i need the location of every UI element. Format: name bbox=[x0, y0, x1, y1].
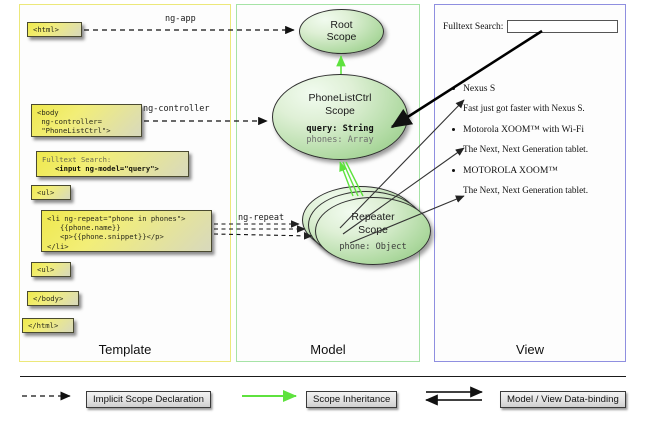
code-box-body-open: <body ng-controller= "PhoneListCtrl"> bbox=[31, 104, 142, 137]
code-line-4: </li> bbox=[47, 242, 69, 251]
code-line-3: "PhoneListCtrl"> bbox=[37, 126, 111, 135]
bullet-icon bbox=[452, 87, 455, 90]
scope-phonelistctrl: PhoneListCtrl Scope query: String phones… bbox=[272, 74, 408, 160]
legend-divider bbox=[20, 376, 626, 377]
scope-repeater-line1: Repeater bbox=[316, 198, 430, 224]
panel-template-label: Template bbox=[20, 342, 230, 357]
bullet-icon bbox=[452, 128, 455, 131]
list-item-snippet: The Next, Next Generation tablet. bbox=[448, 143, 620, 155]
view-search-input[interactable] bbox=[507, 20, 618, 33]
code-text: </html> bbox=[28, 321, 58, 330]
list-item-name: MOTOROLA XOOM™ bbox=[448, 164, 620, 177]
legend: Implicit Scope Declaration Scope Inherit… bbox=[20, 386, 626, 416]
code-text: <html> bbox=[33, 25, 59, 34]
legend-label: Model / View Data-binding bbox=[500, 391, 626, 408]
panel-model: Model bbox=[236, 4, 420, 362]
edge-label-ng-controller: ng-controller bbox=[143, 104, 210, 114]
list-item-name: Nexus S bbox=[448, 82, 620, 95]
legend-label: Implicit Scope Declaration bbox=[86, 391, 211, 408]
code-box-li-ng-repeat: <li ng-repeat="phone in phones"> {{phone… bbox=[41, 210, 212, 252]
green-arrow-icon bbox=[248, 389, 300, 409]
view-search-row: Fulltext Search: bbox=[443, 20, 618, 33]
code-line-2: ng-controller= bbox=[37, 117, 102, 126]
bullet-icon bbox=[452, 169, 455, 172]
edge-label-ng-repeat: ng-repeat bbox=[238, 213, 284, 223]
code-line-2: {{phone.name}} bbox=[47, 223, 121, 232]
code-box-body-close: </body> bbox=[27, 291, 79, 306]
list-item-snippet: Fast just got faster with Nexus S. bbox=[448, 102, 620, 114]
legend-item-scope-inheritance: Scope Inheritance bbox=[248, 389, 397, 409]
scope-root-line2: Scope bbox=[300, 31, 383, 43]
scope-repeater: Repeater Scope phone: Object bbox=[315, 197, 431, 265]
legend-item-implicit-scope-declaration: Implicit Scope Declaration bbox=[28, 389, 211, 409]
scope-ctrl-prop-query: query: String bbox=[306, 124, 373, 134]
list-item: MOTOROLA XOOM™ The Next, Next Generation… bbox=[448, 164, 620, 196]
scope-ctrl-line1: PhoneListCtrl bbox=[273, 75, 407, 105]
scope-repeater-line2: Scope bbox=[316, 224, 430, 237]
scope-repeater-prop-phone: phone: Object bbox=[316, 242, 430, 252]
code-box-ul-open: <ul> bbox=[31, 185, 71, 200]
view-search-label: Fulltext Search: bbox=[443, 22, 503, 32]
code-line-1: Fulltext Search: bbox=[42, 155, 111, 164]
panel-template: Template bbox=[19, 4, 231, 362]
list-item: Nexus S Fast just got faster with Nexus … bbox=[448, 82, 620, 114]
code-text: <ul> bbox=[37, 188, 54, 197]
scope-root-line1: Root bbox=[300, 10, 383, 31]
edge-label-ng-app: ng-app bbox=[165, 14, 196, 24]
code-line-3: <p>{{phone.snippet}}</p> bbox=[47, 232, 164, 241]
code-box-html-close: </html> bbox=[22, 318, 74, 333]
scope-ctrl-prop-phones: phones: Array bbox=[306, 135, 373, 145]
legend-item-model-view-data-binding: Model / View Data-binding bbox=[432, 389, 626, 409]
panel-model-label: Model bbox=[237, 342, 419, 357]
view-phone-list: Nexus S Fast just got faster with Nexus … bbox=[448, 82, 620, 203]
code-text: </body> bbox=[33, 294, 63, 303]
diagram-root: Template Model View <html> <body ng-cont… bbox=[0, 0, 645, 425]
list-item: Motorola XOOM™ with Wi-Fi The Next, Next… bbox=[448, 123, 620, 155]
code-box-ul-close: <ul> bbox=[31, 262, 71, 277]
list-item-snippet: The Next, Next Generation tablet. bbox=[448, 184, 620, 196]
scope-ctrl-line2: Scope bbox=[273, 105, 407, 118]
scope-root: Root Scope bbox=[299, 9, 384, 54]
legend-label: Scope Inheritance bbox=[306, 391, 397, 408]
code-line-1: <body bbox=[37, 108, 59, 117]
code-box-fulltext-search: Fulltext Search: <input ng-model="query"… bbox=[36, 151, 189, 177]
code-line-1: <li ng-repeat="phone in phones"> bbox=[47, 214, 185, 223]
double-arrow-icon bbox=[432, 389, 494, 409]
dashed-arrow-icon bbox=[28, 389, 80, 409]
code-text: <ul> bbox=[37, 265, 54, 274]
list-item-name: Motorola XOOM™ with Wi-Fi bbox=[448, 123, 620, 136]
code-line-2: <input ng-model="query"> bbox=[42, 164, 159, 173]
code-box-html-open: <html> bbox=[27, 22, 82, 37]
view-content: Fulltext Search: Nexus S Fast just got f… bbox=[434, 4, 626, 362]
